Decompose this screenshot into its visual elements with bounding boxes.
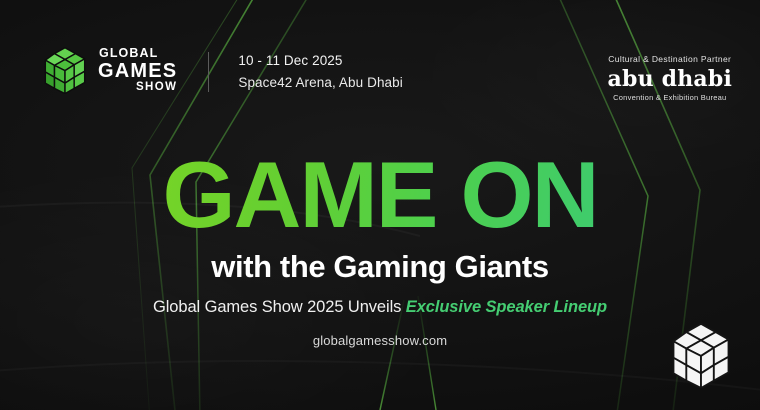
brand-line-games: GAMES	[98, 61, 177, 81]
event-date: 10 - 11 Dec 2025	[238, 53, 403, 68]
partner-kicker: Cultural & Destination Partner	[608, 54, 731, 64]
banner-header: GLOBAL GAMES SHOW 10 - 11 Dec 2025 Space…	[0, 0, 760, 140]
partner-lockup: Cultural & Destination Partner abu dhabi…	[608, 46, 732, 102]
partner-name: abu dhabi	[608, 68, 732, 90]
hero-tagline-accent: Exclusive Speaker Lineup	[406, 298, 607, 316]
hero-tagline: Global Games Show 2025 Unveils Exclusive…	[153, 298, 607, 317]
brand-lockup: GLOBAL GAMES SHOW 10 - 11 Dec 2025 Space…	[44, 46, 403, 94]
brand-line-show: SHOW	[136, 82, 177, 94]
hero-block: GAME ON with the Gaming Giants Global Ga…	[0, 150, 760, 348]
event-details: 10 - 11 Dec 2025 Space42 Arena, Abu Dhab…	[238, 50, 403, 90]
event-promo-banner: GLOBAL GAMES SHOW 10 - 11 Dec 2025 Space…	[0, 0, 760, 410]
partner-subtitle: Convention & Exhibition Bureau	[613, 93, 726, 102]
event-venue: Space42 Arena, Abu Dhabi	[238, 75, 403, 90]
website-url[interactable]: globalgamesshow.com	[313, 333, 447, 348]
header-divider	[208, 52, 209, 92]
hero-subheadline: with the Gaming Giants	[211, 249, 548, 285]
brand-line-global: GLOBAL	[99, 47, 158, 60]
green-cube-icon	[44, 46, 86, 94]
hero-headline: GAME ON	[158, 150, 601, 245]
brand-wordmark: GLOBAL GAMES SHOW	[99, 47, 177, 93]
white-cube-icon	[670, 322, 732, 388]
hero-tagline-plain: Global Games Show 2025 Unveils	[153, 298, 406, 316]
